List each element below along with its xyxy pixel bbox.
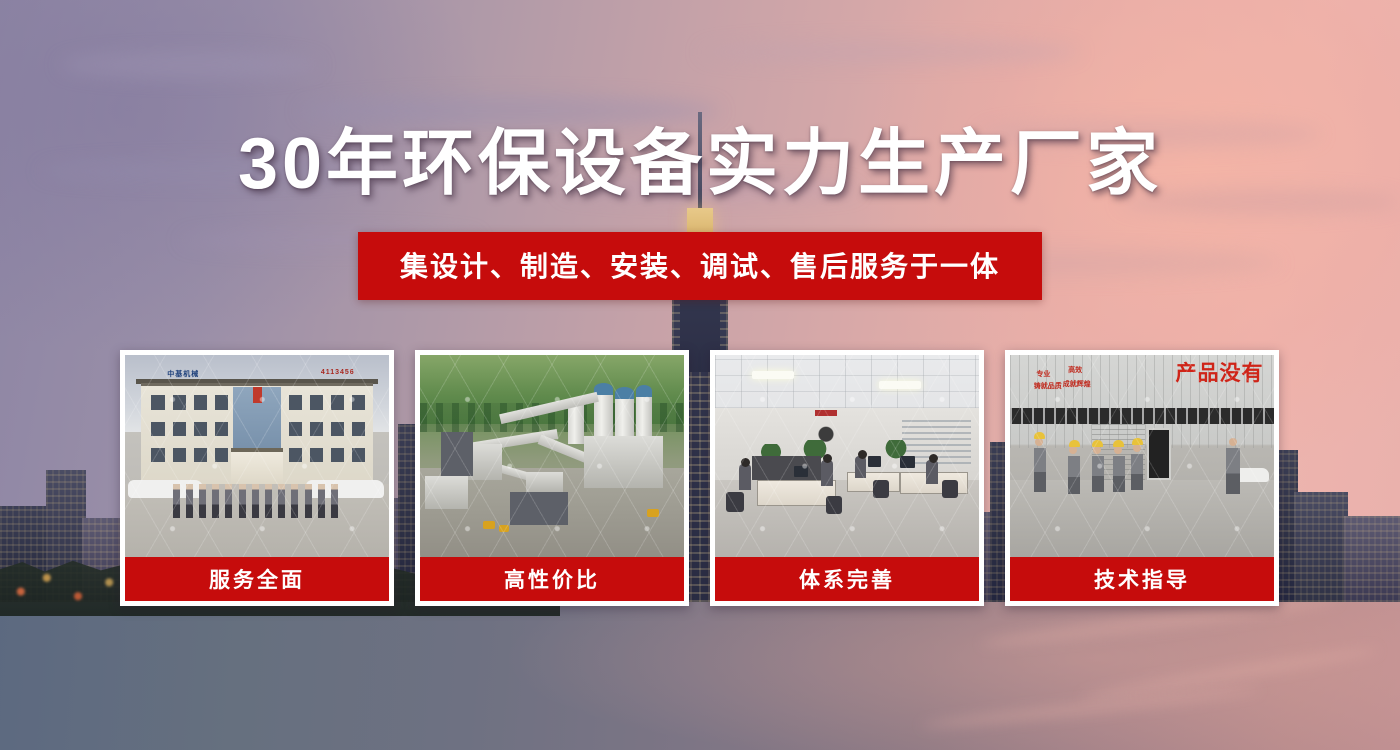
company-building-staff-photo: 中基机械 4113456 — [125, 355, 389, 557]
factory-wall-big-text: 产品没有 — [1175, 363, 1263, 384]
building-phone-text: 4113456 — [321, 369, 355, 376]
hero-banner: 30年环保设备实力生产厂家 集设计、制造、安装、调试、售后服务于一体 — [0, 0, 1400, 750]
page-title: 30年环保设备实力生产厂家 — [0, 128, 1400, 200]
cloud — [300, 96, 720, 126]
subtitle-banner: 集设计、制造、安装、调试、售后服务于一体 — [358, 232, 1042, 300]
card-caption: 服务全面 — [125, 557, 389, 601]
factory-wall-slogan: 高效 — [1068, 367, 1082, 375]
feature-card[interactable]: 中基机械 4113456 服务全面 — [120, 350, 394, 606]
building-sign-text: 中基机械 — [167, 369, 199, 379]
factory-yard-workers-photo: 产品没有 专业 铸就品质 高效 成就辉煌 — [1010, 355, 1274, 557]
wall-decal-icon — [807, 416, 845, 442]
office-interior-staff-photo — [715, 355, 979, 557]
factory-wall-slogan: 成就辉煌 — [1063, 381, 1091, 389]
aerial-industrial-plant-photo — [420, 355, 684, 557]
feature-card[interactable]: 高性价比 — [415, 350, 689, 606]
feature-card[interactable]: 产品没有 专业 铸就品质 高效 成就辉煌 — [1005, 350, 1279, 606]
feature-card[interactable]: 体系完善 — [710, 350, 984, 606]
feature-card-list: 中基机械 4113456 服务全面 — [120, 350, 1280, 606]
factory-wall-slogan: 铸就品质 — [1034, 383, 1062, 391]
card-caption: 体系完善 — [715, 557, 979, 601]
card-caption: 高性价比 — [420, 557, 684, 601]
cloud — [60, 52, 320, 78]
card-caption: 技术指导 — [1010, 557, 1274, 601]
factory-wall-slogan: 专业 — [1036, 371, 1050, 379]
cloud — [700, 40, 1080, 64]
